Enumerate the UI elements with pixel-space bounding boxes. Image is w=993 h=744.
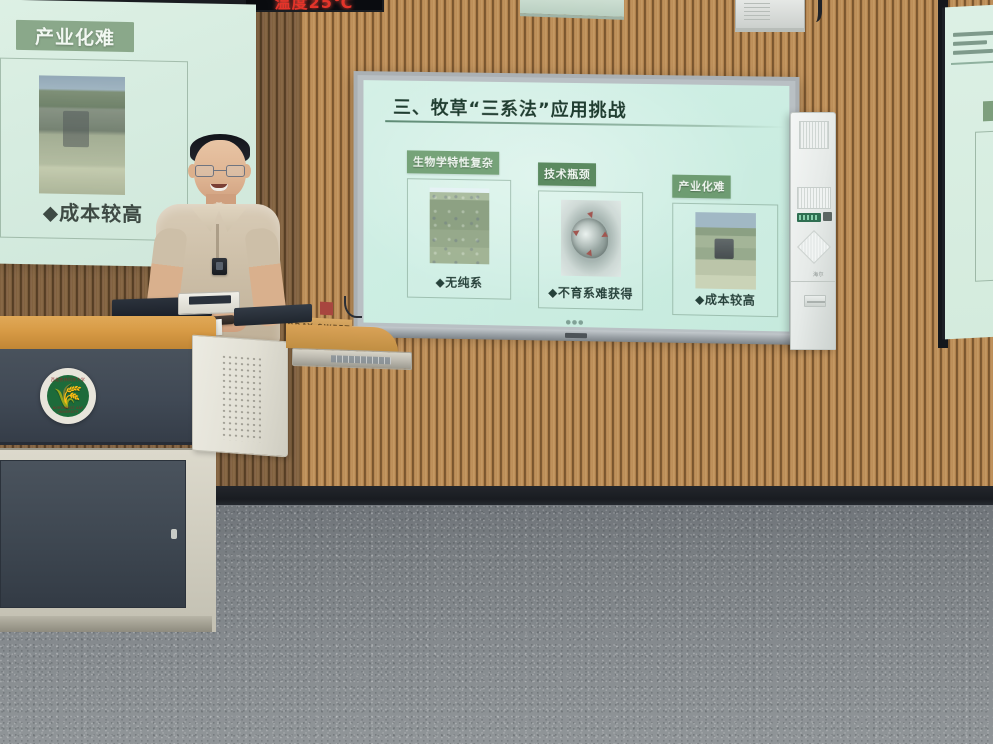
ac-display: [797, 213, 821, 222]
wall-cable: [806, 0, 822, 22]
right-screen-chip: [983, 100, 993, 121]
right-screen-title-rule: [951, 60, 993, 65]
right-projection-screen: [942, 4, 993, 339]
slide-card-1: 技术瓶颈 ◆不育系难获得: [538, 162, 643, 310]
podium-base: [0, 616, 212, 632]
led-sign-text: 温度25℃: [275, 0, 354, 10]
red-arrow-icon: [586, 248, 594, 256]
glasses-icon: [195, 165, 245, 177]
red-arrow-icon: [573, 228, 581, 236]
ac-filter-slot: [804, 295, 826, 307]
lecture-hall-scene: 温度25℃ 产业化难 ◆成本较高 三、牧草“三系法”应用挑战 生物学特性复杂: [0, 0, 993, 744]
right-screen-card-body: [975, 130, 993, 282]
red-arrow-icon: [600, 231, 608, 239]
slide-card-1-bullet: ◆不育系难获得: [539, 283, 642, 302]
logo-ring: 西北农林科技大学 🌾 NORTHWEST A&F UNIVERSITY: [47, 375, 89, 417]
slide-card-row: 生物学特性复杂 ◆无纯系 技术瓶颈: [387, 136, 771, 323]
podium-side-console[interactable]: [192, 335, 288, 458]
podium-wood-top: [0, 316, 216, 350]
lapel-microphone-icon: [212, 258, 227, 275]
ac-power-button[interactable]: [823, 212, 832, 221]
slide-title: 三、牧草“三系法”应用挑战: [393, 93, 627, 122]
logo-text-cn: 西北农林科技大学: [47, 377, 89, 383]
air-conditioner-unit[interactable]: 海尔: [790, 112, 836, 350]
slide-card-2-chip: 产业化难: [672, 175, 731, 199]
podium-lower-cabinet: [0, 448, 216, 632]
slide-card-2-body: ◆成本较高: [672, 203, 778, 318]
desk-monitor-center[interactable]: [178, 291, 240, 315]
slide-card-0-body: ◆无纯系: [407, 178, 511, 300]
slide-footnote: ●●●: [566, 319, 585, 326]
ac-mid-vent: [797, 187, 831, 209]
logo-text-en: NORTHWEST A&F UNIVERSITY: [47, 406, 89, 414]
projected-slide: 三、牧草“三系法”应用挑战 生物学特性复杂 ◆无纯系 技术瓶颈: [363, 80, 789, 331]
speaker-grill-icon: [744, 0, 770, 21]
university-logo: 西北农林科技大学 🌾 NORTHWEST A&F UNIVERSITY: [40, 368, 96, 424]
right-screen-title-lines: [953, 31, 993, 60]
alfalfa-field-photo: [429, 188, 489, 265]
podium-front-panel: [0, 349, 216, 445]
left-screen-chip: 产业化难: [16, 20, 134, 52]
ac-brand-label: 海尔: [813, 271, 824, 278]
forage-harvester-field-photo: [695, 212, 756, 289]
podium-cabinet-door[interactable]: [0, 460, 186, 608]
slide-card-1-body: ◆不育系难获得: [538, 190, 643, 310]
cabinet-door-knob[interactable]: [171, 529, 177, 539]
tray-clip: [565, 333, 587, 338]
microscopy-anther-section-photo: [561, 200, 621, 277]
wheat-sheaf-icon: 🌾: [53, 384, 83, 408]
slide-card-0: 生物学特性复杂 ◆无纯系: [407, 150, 511, 299]
keyboard-keys[interactable]: [331, 355, 391, 364]
ac-panel-seam: [791, 281, 835, 282]
led-temperature-sign: 温度25℃: [244, 0, 384, 12]
console-speaker-grill-icon: [221, 354, 261, 443]
main-whiteboard-frame: 三、牧草“三系法”应用挑战 生物学特性复杂 ◆无纯系 技术瓶颈: [354, 71, 800, 341]
polo-placket: [216, 224, 219, 258]
red-arrow-icon: [587, 212, 595, 220]
red-wall-card: [320, 302, 333, 316]
forage-harvester-field-photo: [39, 75, 125, 195]
ac-top-vent: [799, 121, 829, 149]
slide-card-0-chip: 生物学特性复杂: [407, 150, 499, 174]
slide-card-1-chip: 技术瓶颈: [538, 162, 596, 186]
ac-diamond-grill-icon: [797, 230, 831, 264]
wall-speaker: [735, 0, 805, 32]
slide-card-2: 产业化难 ◆成本较高: [672, 175, 778, 318]
slide-card-2-bullet: ◆成本较高: [673, 290, 777, 309]
lectern-podium: 西北农林科技大学 🌾 NORTHWEST A&F UNIVERSITY: [0, 316, 304, 646]
slide-card-0-bullet: ◆无纯系: [408, 273, 510, 292]
